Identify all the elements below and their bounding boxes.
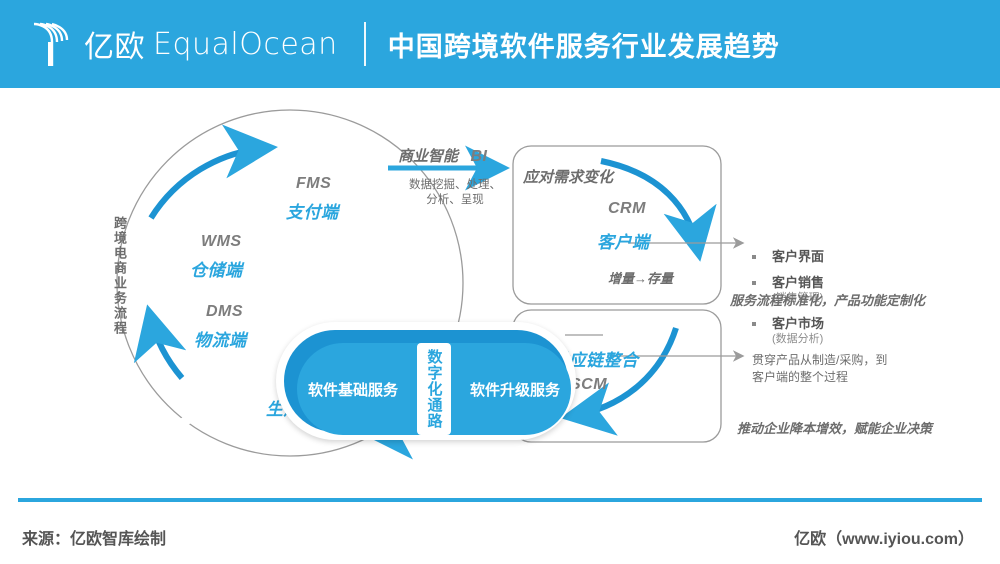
list-item: 客户界面 <box>752 248 824 265</box>
brand-wordmark: 亿欧 EqualOcean <box>84 22 338 66</box>
footer-divider <box>18 498 982 502</box>
bullet-dot-icon <box>752 281 756 285</box>
node-dms-en: DMS <box>206 303 243 321</box>
bi-description: 数据挖掘、处理、 分析、呈现 <box>397 178 513 208</box>
bullet-dot-icon <box>752 322 756 326</box>
footer-source: 来源：亿欧智库绘制 <box>22 525 166 549</box>
brand-name-en: EqualOcean <box>153 27 338 62</box>
capsule-right-label: 软件升级服务 <box>459 379 571 400</box>
capsule-middle-slot: 数字化通路 <box>417 343 451 435</box>
diagram-canvas: 跨境电商业务流程 FMS 支付端 WMS 仓储端 DMS 物流端 OMS 生产/… <box>0 88 1000 488</box>
bi-desc-line2: 分析、呈现 <box>397 193 513 208</box>
node-dms-cn: 物流端 <box>194 326 247 351</box>
crm-en-label: CRM <box>608 200 646 218</box>
bullet-main-1: 客户销售 <box>772 274 824 291</box>
bi-desc-line1: 数据挖掘、处理、 <box>397 178 513 193</box>
equalocean-logo-icon <box>30 18 78 70</box>
bi-title-cn: 商业智能 <box>398 148 458 165</box>
process-circle-vertical-label: 跨境电商业务流程 <box>110 216 129 336</box>
infographic-root: 亿欧 EqualOcean 中国跨境软件服务行业发展趋势 <box>0 0 1000 564</box>
capsule-ring: 软件基础服务 数字化通路 软件升级服务 <box>284 330 568 432</box>
brand-logo: 亿欧 EqualOcean <box>30 18 338 70</box>
bullet-main-2: 客户市场 <box>772 315 824 332</box>
bi-title-en: BI <box>470 148 487 165</box>
digital-pathway-capsule: 软件基础服务 数字化通路 软件升级服务 <box>276 322 576 440</box>
node-wms-cn: 仓储端 <box>190 256 243 281</box>
capsule-left-label: 软件基础服务 <box>297 379 409 400</box>
footer-brand: 亿欧（www.iyiou.com） <box>794 525 974 549</box>
bi-flow-title: 商业智能 BI <box>398 145 487 166</box>
circle-arc-arrow-bottom <box>150 316 182 378</box>
capsule-inner: 软件基础服务 数字化通路 软件升级服务 <box>297 343 571 435</box>
page-footer: 来源：亿欧智库绘制 亿欧（www.iyiou.com） <box>0 510 1000 564</box>
note-scm-outcome: 推动企业降本增效，赋能企业决策 <box>737 418 932 437</box>
bullet-main-0: 客户界面 <box>772 248 824 265</box>
page-header: 亿欧 EqualOcean 中国跨境软件服务行业发展趋势 <box>0 0 1000 88</box>
bullet-dot-icon <box>752 255 756 259</box>
header-divider <box>364 22 366 66</box>
crm-footnote: 增量→存量 <box>608 268 673 287</box>
crm-cn-label: 客户端 <box>597 228 650 253</box>
bullet-sub-2: (数据分析) <box>772 332 824 347</box>
page-title: 中国跨境软件服务行业发展趋势 <box>388 25 780 64</box>
list-item: 客户市场 (数据分析) <box>752 315 824 347</box>
node-wms-en: WMS <box>201 233 242 251</box>
node-fms-cn: 支付端 <box>286 198 339 223</box>
capsule-middle-label: 数字化通路 <box>424 349 445 429</box>
note-crm-outcome: 服务流程标准化，产品功能定制化 <box>730 290 925 309</box>
note-scm-line2: 客户端的整个过程 <box>752 369 887 386</box>
scm-arc-arrow <box>572 328 676 416</box>
brand-name-cn: 亿欧 <box>84 22 145 66</box>
note-scm-scope: 贯穿产品从制造/采购，到 客户端的整个过程 <box>752 352 887 386</box>
crm-heading: 应对需求变化 <box>523 166 613 187</box>
circle-arc-arrow-top <box>151 148 266 218</box>
note-scm-line1: 贯穿产品从制造/采购，到 <box>752 352 887 369</box>
node-fms-en: FMS <box>296 175 331 193</box>
